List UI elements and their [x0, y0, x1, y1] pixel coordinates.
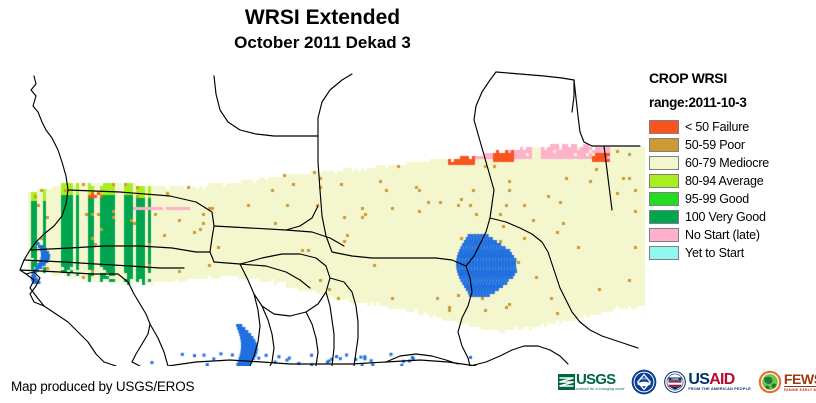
usaid-logo: USAID USAID FROM THE AMERICAN PEOPLE	[664, 365, 750, 399]
legend-row[interactable]: 80-94 Average	[649, 172, 816, 190]
legend-panel: CROP WRSI range:2011-10-3 < 50 Failure50…	[649, 70, 816, 262]
svg-text:USAID: USAID	[672, 378, 680, 381]
page-title: WRSI Extended	[0, 6, 645, 30]
legend-row[interactable]: 95-99 Good	[649, 190, 816, 208]
map-page: WRSI Extended October 2011 Dekad 3	[0, 0, 816, 403]
usaid-name: USAID	[688, 372, 750, 387]
legend-label: 50-59 Poor	[685, 138, 745, 152]
admin-boundary-lines	[20, 72, 640, 366]
usgs-name: USGS	[576, 373, 624, 387]
legend-color-swatch	[649, 192, 679, 206]
usaid-wordmark: USAID FROM THE AMERICAN PEOPLE	[688, 372, 750, 392]
legend-row[interactable]: Yet to Start	[649, 244, 816, 262]
fews-net-logo: FEWS NET FAMINE EARLY WARNING SYSTEMS NE…	[758, 365, 816, 399]
legend-row[interactable]: 60-79 Mediocre	[649, 154, 816, 172]
legend-label: 60-79 Mediocre	[685, 156, 769, 170]
map-area[interactable]	[0, 66, 645, 366]
legend-label: 80-94 Average	[685, 174, 764, 188]
legend-label: Yet to Start	[685, 246, 744, 260]
fews-name: FEWS NET	[784, 372, 816, 387]
page-subtitle: October 2011 Dekad 3	[0, 32, 645, 54]
fews-wordmark: FEWS NET FAMINE EARLY WARNING SYSTEMS NE…	[784, 372, 816, 393]
legend-color-swatch	[649, 246, 679, 260]
legend-color-swatch	[649, 210, 679, 224]
fews-tagline: FAMINE EARLY WARNING SYSTEMS NETWORK	[784, 387, 816, 393]
legend-row[interactable]: 50-59 Poor	[649, 136, 816, 154]
legend-color-swatch	[649, 138, 679, 152]
noaa-logo: NOAA	[631, 365, 657, 399]
legend-label: 100 Very Good	[685, 210, 766, 224]
svg-text:NOAA: NOAA	[640, 376, 648, 380]
legend-color-swatch	[649, 174, 679, 188]
legend-color-swatch	[649, 228, 679, 242]
legend-color-swatch	[649, 156, 679, 170]
usgs-wordmark: USGS science for a changing world	[576, 373, 624, 392]
legend-color-swatch	[649, 120, 679, 134]
map-credit: Map produced by USGS/EROS	[11, 379, 194, 394]
legend-heading: CROP WRSI	[649, 70, 816, 86]
country-boundaries-layer	[0, 66, 645, 366]
legend-items: < 50 Failure50-59 Poor60-79 Mediocre80-9…	[649, 118, 816, 262]
legend-label: No Start (late)	[685, 228, 760, 242]
noaa-seal-icon: NOAA	[631, 369, 657, 395]
legend-row[interactable]: No Start (late)	[649, 226, 816, 244]
fews-globe-icon	[758, 370, 782, 394]
legend-row[interactable]: < 50 Failure	[649, 118, 816, 136]
title-block: WRSI Extended October 2011 Dekad 3	[0, 6, 645, 54]
usgs-wave-icon	[558, 374, 575, 390]
usaid-seal-icon: USAID	[664, 371, 686, 393]
logo-bar: USGS science for a changing world NOAA	[558, 364, 816, 400]
legend-range: range:2011-10-3	[649, 95, 816, 110]
legend-label: 95-99 Good	[685, 192, 749, 206]
usgs-logo: USGS science for a changing world	[558, 365, 624, 399]
legend-label: < 50 Failure	[685, 120, 749, 134]
usgs-tagline: science for a changing world	[576, 387, 624, 392]
legend-row[interactable]: 100 Very Good	[649, 208, 816, 226]
usaid-tagline: FROM THE AMERICAN PEOPLE	[688, 387, 750, 392]
